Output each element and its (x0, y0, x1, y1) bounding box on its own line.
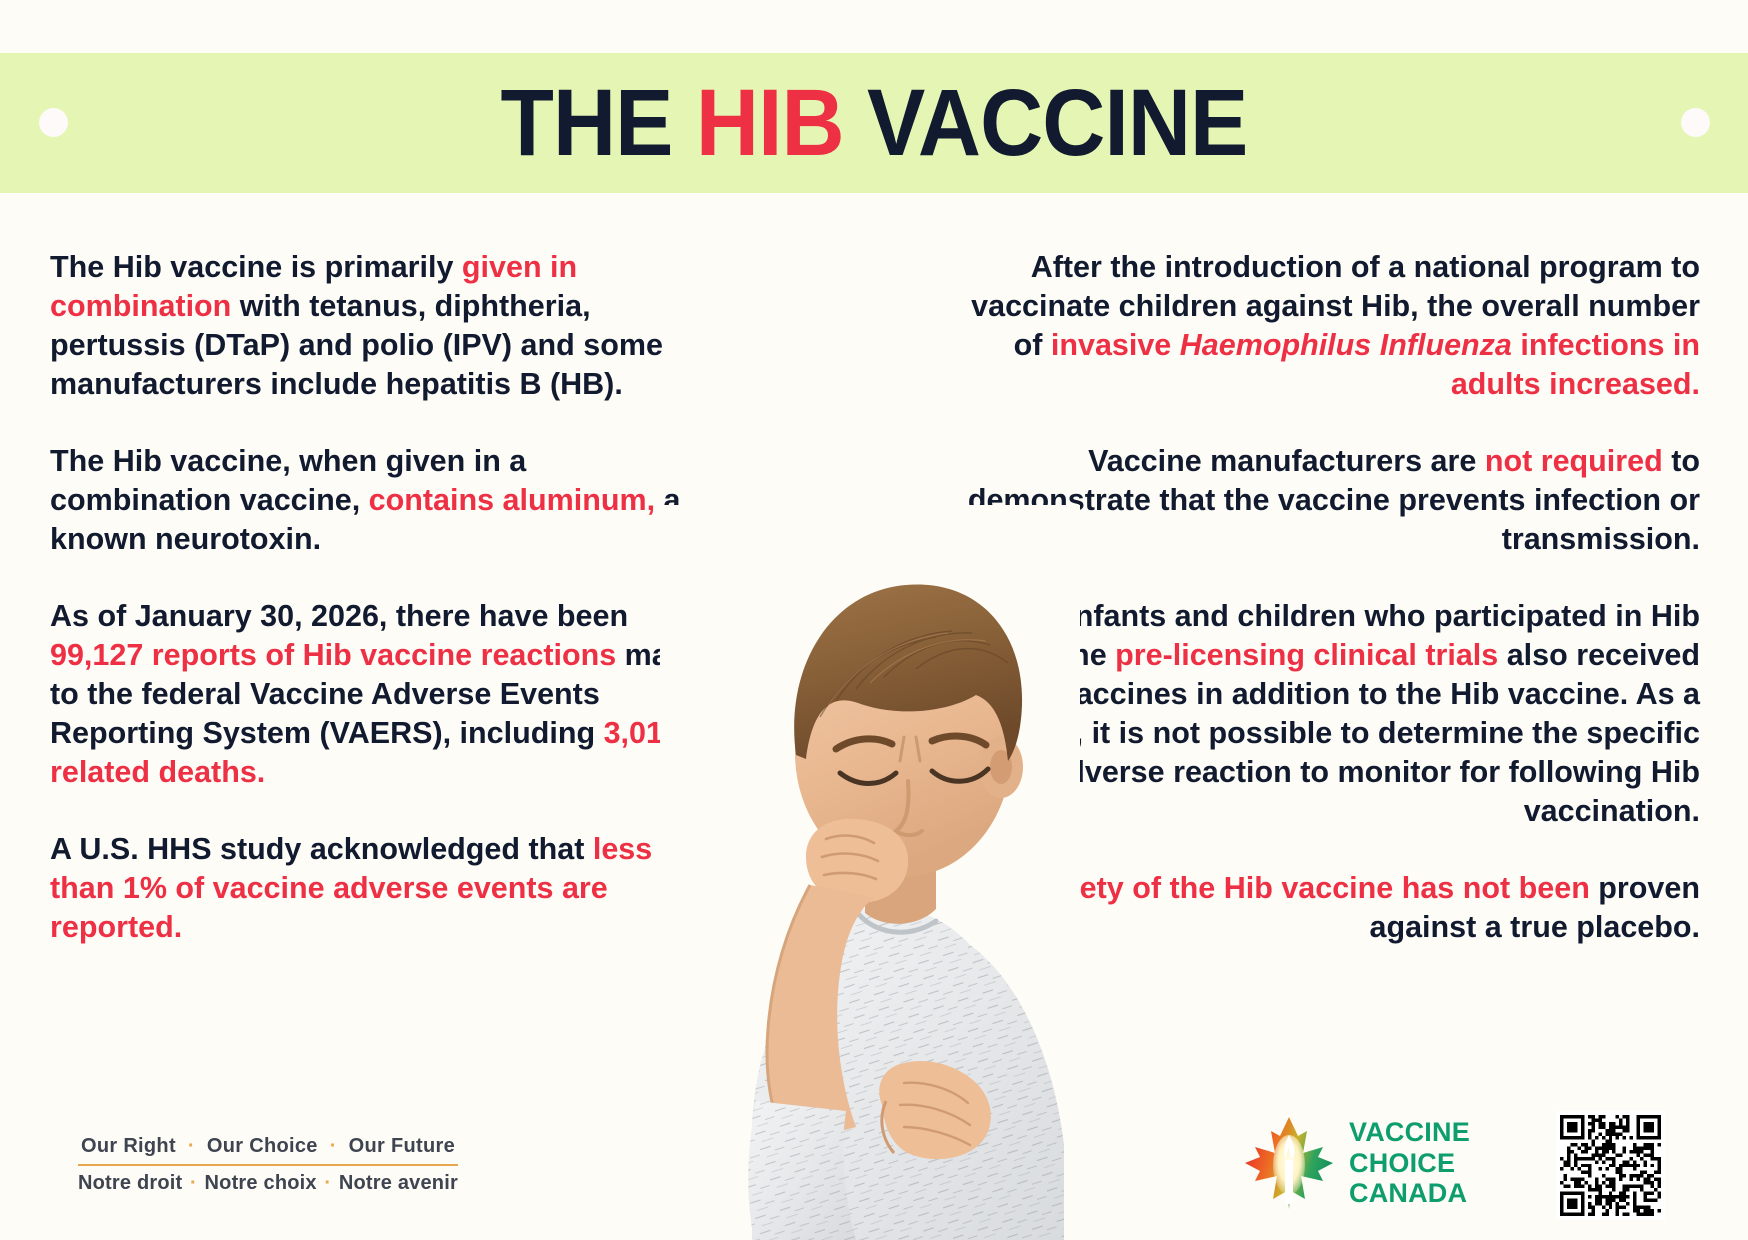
text-run: 99,127 reports of Hib vaccine reactions (50, 638, 616, 672)
text-run: Vaccine manufacturers are (1088, 444, 1485, 478)
vcc-line-1: VACCINE (1349, 1117, 1470, 1148)
aluminum-paragraph: The Hib vaccine, when given in a combina… (50, 442, 710, 559)
tagline-french: Notre droit · Notre choix · Notre avenir (78, 1166, 458, 1195)
maple-leaf-candle-icon (1243, 1113, 1335, 1213)
tagline-separator-icon: · (330, 1135, 337, 1158)
tagline-en-2: Our Choice (207, 1135, 318, 1158)
header-banner: THE HIB VACCINE (0, 53, 1748, 193)
page-title: THE HIB VACCINE (501, 76, 1248, 171)
tagline-block: Our Right · Our Choice · Our Future Notr… (78, 1135, 458, 1195)
vaccine-choice-canada-logo: VACCINE CHOICE CANADA (1243, 1113, 1470, 1213)
text-run: safety of the Hib vaccine has not been (1036, 871, 1590, 905)
text-run: pre-licensing clinical trials (1115, 638, 1498, 672)
text-run: contains aluminum, (369, 483, 655, 517)
text-run: A U.S. HHS study acknowledged that (50, 832, 593, 866)
tagline-fr-2: Notre choix (205, 1172, 317, 1195)
tagline-separator-icon: · (188, 1135, 195, 1158)
hole-punch-right-icon (1681, 108, 1710, 137)
tagline-fr-1: Notre droit (78, 1172, 182, 1195)
hhs-underreporting-paragraph: A U.S. HHS study acknowledged that less … (50, 830, 710, 947)
coughing-boy-photo (660, 505, 1080, 1240)
qr-code-image[interactable] (1560, 1115, 1661, 1216)
vcc-line-3: CANADA (1349, 1178, 1470, 1209)
tagline-separator-icon: · (324, 1172, 331, 1195)
tagline-fr-3: Notre avenir (339, 1172, 458, 1195)
text-run: Haemophilus Influenza (1180, 328, 1512, 362)
tagline-separator-icon: · (190, 1172, 197, 1195)
text-run: not required (1485, 444, 1663, 478)
vcc-wordmark: VACCINE CHOICE CANADA (1349, 1117, 1470, 1209)
tagline-english: Our Right · Our Choice · Our Future (78, 1135, 458, 1164)
combination-paragraph: The Hib vaccine is primarily given in co… (50, 248, 710, 404)
page-title-part1: THE (501, 70, 696, 176)
vaers-paragraph: As of January 30, 2026, there have been … (50, 597, 710, 792)
tagline-en-1: Our Right (81, 1135, 176, 1158)
top-white-margin (0, 0, 1748, 53)
page-title-highlight: HIB (696, 70, 844, 176)
text-run: The Hib vaccine is primarily (50, 250, 462, 284)
hole-punch-left-icon (39, 108, 68, 137)
text-run: As of January 30, 2026, there have been (50, 599, 628, 633)
qr-code[interactable] (1556, 1111, 1665, 1220)
tagline-en-3: Our Future (349, 1135, 455, 1158)
left-text-column: The Hib vaccine is primarily given in co… (50, 248, 710, 947)
vcc-line-2: CHOICE (1349, 1148, 1470, 1179)
page-title-part2: VACCINE (844, 70, 1248, 176)
adult-infections-paragraph: After the introduction of a national pro… (940, 248, 1700, 404)
text-run: invasive (1051, 328, 1180, 362)
